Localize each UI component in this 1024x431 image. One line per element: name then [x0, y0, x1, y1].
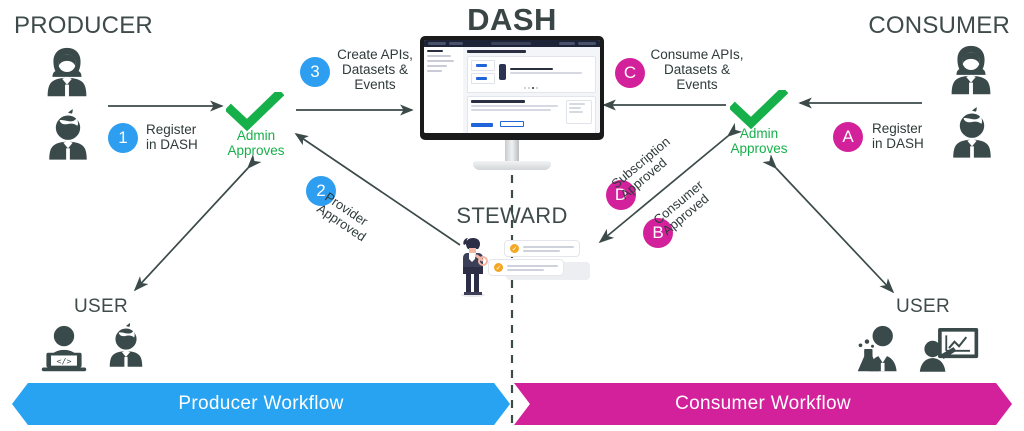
step-3-line2: Datasets & — [334, 62, 416, 77]
step-a-line2: in DASH — [872, 136, 924, 151]
step-c-line1: Consume APIs, — [648, 47, 746, 62]
steward-task-card: ✓ — [488, 259, 564, 276]
arrow-producer-admin-user — [135, 168, 248, 290]
consumer-woman-icon — [940, 40, 1002, 107]
consumer-title: CONSUMER — [868, 12, 1010, 40]
step-3-badge: 3 — [300, 57, 330, 87]
step-1-line2: in DASH — [146, 137, 198, 152]
scientist-icon — [852, 324, 906, 379]
step-3-line3: Events — [334, 77, 416, 92]
producer-workflow-label: Producer Workflow — [178, 393, 343, 415]
steward-title: STEWARD — [0, 203, 1024, 229]
arrow-consumer-admin-user — [776, 168, 893, 292]
mini-view-requests-button[interactable] — [500, 121, 524, 127]
check-circle-icon: ✓ — [494, 263, 503, 272]
mini-card-coming-soon — [467, 56, 596, 93]
step-a-line1: Register — [872, 121, 924, 136]
mini-main — [463, 47, 600, 133]
steward-task-card: ✓ — [504, 240, 580, 257]
check-circle-icon: ✓ — [510, 244, 519, 253]
dash-screen — [424, 40, 600, 133]
mini-submit-request-button[interactable] — [471, 123, 493, 127]
svg-text:</>: </> — [56, 356, 71, 366]
producer-workflow-ribbon: Producer Workflow — [12, 383, 510, 425]
mini-welcome-heading — [467, 50, 526, 53]
consumer-user-title: USER — [896, 296, 950, 318]
step-c-badge: C — [615, 58, 645, 88]
diagram-canvas: PRODUCER DASH CONSUMER — [0, 0, 1024, 431]
monitor-stand-base — [473, 161, 551, 170]
consumer-workflow-label: Consumer Workflow — [675, 393, 851, 415]
step-d-caption: Subscription Approved — [609, 135, 682, 202]
steward-card-lines — [507, 265, 558, 271]
producer-woman-icon — [36, 42, 98, 109]
step-3-line1: Create APIs, — [334, 47, 416, 62]
step-c-line2: Datasets & — [648, 62, 746, 77]
consumer-man-icon — [942, 106, 1002, 171]
step-1-line1: Register — [146, 122, 198, 137]
mini-body — [424, 47, 600, 133]
mini-card-new-request — [467, 96, 596, 133]
step-a-badge: A — [833, 122, 863, 152]
step-a-caption: Register in DASH — [872, 121, 924, 151]
producer-approve-label: Admin Approves — [222, 128, 290, 158]
producer-approve-line2: Approves — [222, 143, 290, 158]
producer-user-man-icon — [100, 322, 152, 379]
producer-man-icon — [38, 108, 98, 173]
presenter-board-icon — [918, 324, 980, 379]
consumer-approve-label: Admin Approves — [725, 126, 793, 156]
producer-approve-line1: Admin — [222, 128, 290, 143]
mini-topbar — [424, 40, 600, 47]
step-3-caption: Create APIs, Datasets & Events — [334, 47, 416, 92]
step-c-line3: Events — [648, 77, 746, 92]
dash-monitor — [420, 36, 604, 140]
mini-illustration-person — [499, 64, 506, 80]
steward-person-icon — [458, 236, 488, 303]
step-1-badge: 1 — [108, 123, 138, 153]
consumer-workflow-ribbon: Consumer Workflow — [514, 383, 1012, 425]
developer-laptop-icon: </> — [38, 324, 90, 379]
mini-sidebar — [424, 47, 463, 133]
producer-user-title: USER — [74, 296, 128, 318]
step-c-caption: Consume APIs, Datasets & Events — [648, 47, 746, 92]
step-1-caption: Register in DASH — [146, 122, 198, 152]
steward-card-lines — [523, 246, 574, 252]
consumer-approve-line2: Approves — [725, 141, 793, 156]
consumer-approve-line1: Admin — [725, 126, 793, 141]
